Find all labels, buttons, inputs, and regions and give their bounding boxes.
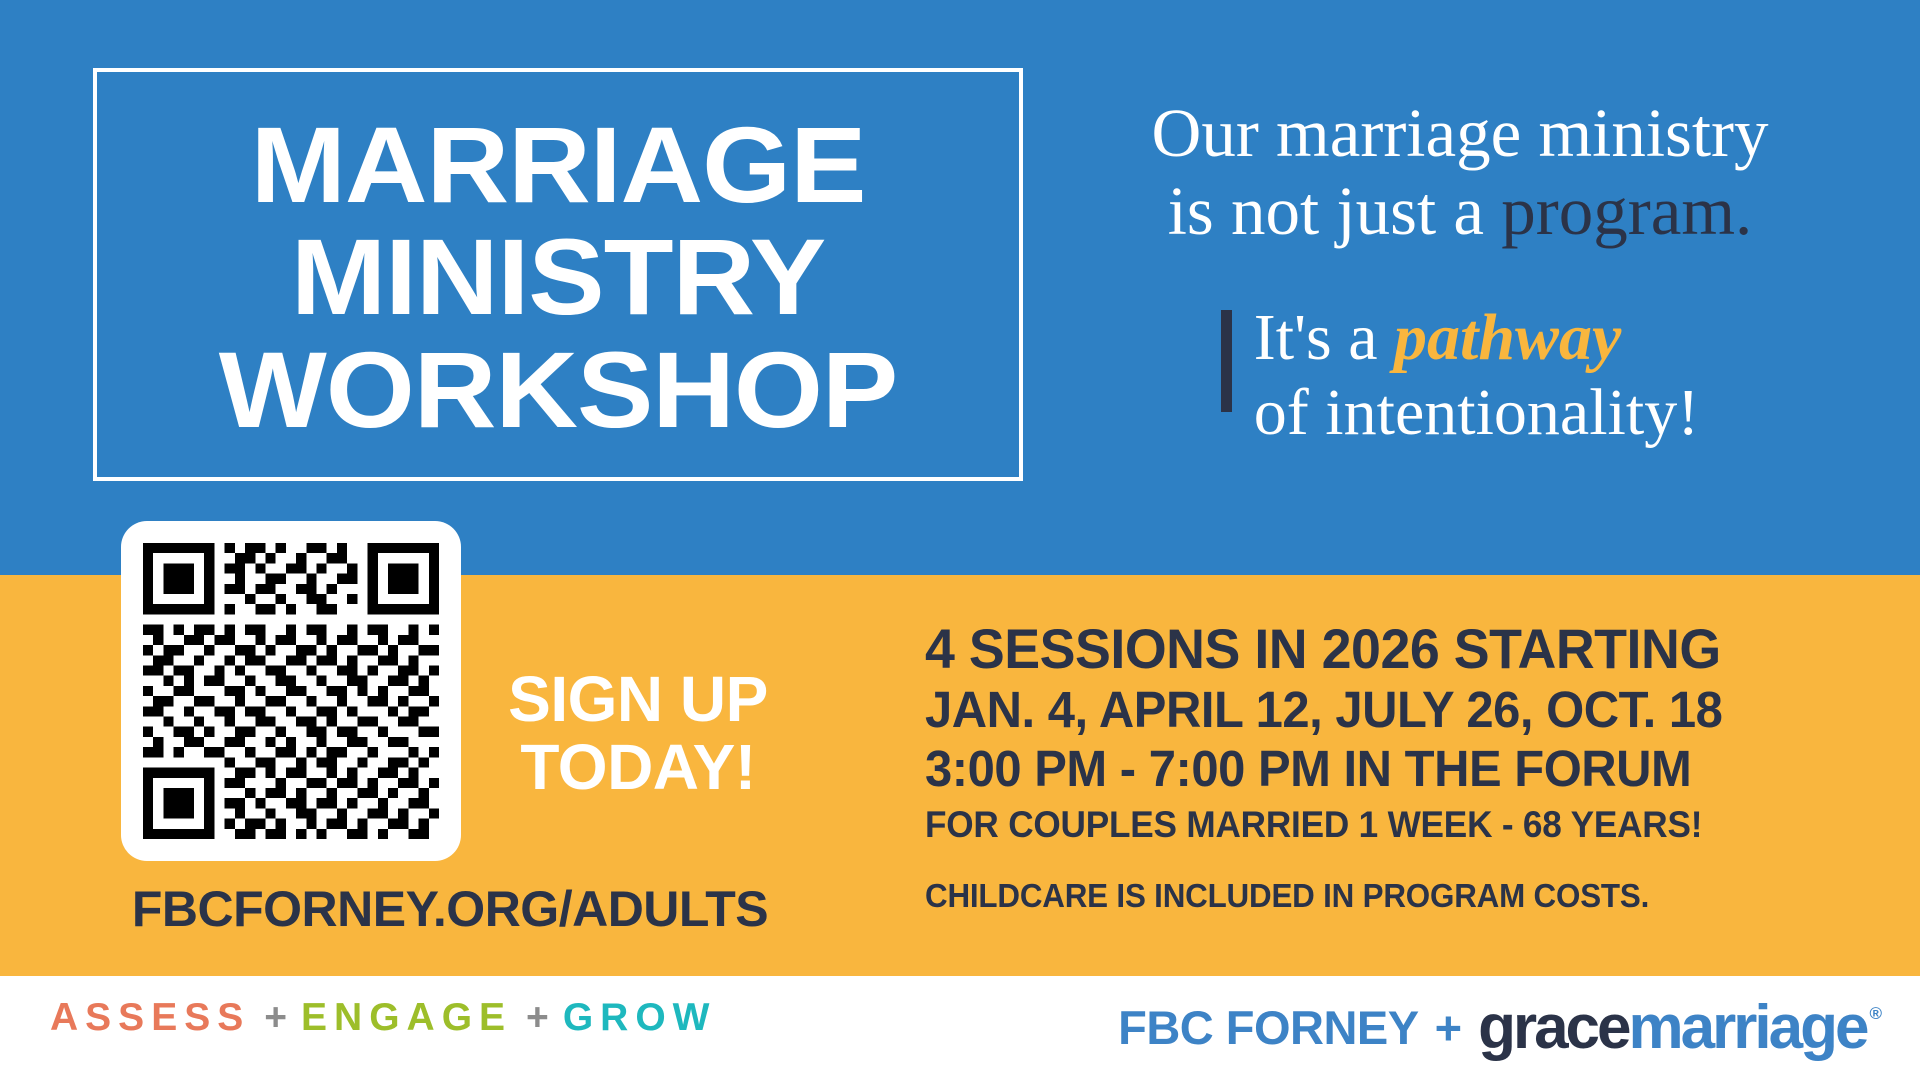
subheadline-line-2: of intentionality! (1254, 376, 1699, 449)
detail-sessions: 4 SESSIONS IN 2026 STARTING (925, 618, 1789, 679)
tagline-separator-1: + (250, 996, 301, 1040)
signup-line-2: TODAY! (468, 733, 808, 801)
poster-canvas: MARRIAGE MINISTRY WORKSHOP Our marriage … (0, 0, 1920, 1080)
accent-bar (1221, 310, 1232, 412)
headline-line-2: is not just a (1168, 173, 1502, 249)
subheadline-prefix: It's a (1254, 301, 1394, 374)
title-line-1: MARRIAGE (251, 109, 866, 221)
detail-dates: JAN. 4, APRIL 12, JULY 26, OCT. 18 (925, 681, 1789, 738)
logo-grace: grace (1478, 992, 1628, 1063)
title-line-3: WORKSHOP (219, 334, 897, 446)
brand-plus: + (1419, 1000, 1478, 1055)
title-block: MARRIAGE MINISTRY WORKSHOP (93, 68, 1023, 481)
event-details: 4 SESSIONS IN 2026 STARTING JAN. 4, APRI… (925, 618, 1825, 915)
grace-marriage-logo: grace marriage ® (1478, 992, 1882, 1063)
headline-line-1: Our marriage ministry (1152, 95, 1769, 171)
registered-mark-icon: ® (1869, 1004, 1882, 1024)
headline-emphasis: program. (1501, 173, 1752, 249)
logo-marriage: marriage (1629, 992, 1867, 1063)
subheadline: It's a pathway of intentionality! (1254, 300, 1699, 450)
subheadline-accent-word: pathway (1394, 301, 1621, 374)
tagline-separator-2: + (512, 996, 563, 1040)
subheadline-block: It's a pathway of intentionality! (1045, 300, 1875, 450)
title-line-2: MINISTRY (291, 221, 825, 333)
headline: Our marriage ministry is not just a prog… (1045, 95, 1875, 251)
detail-audience: FOR COUPLES MARRIED 1 WEEK - 68 YEARS! (925, 803, 1780, 847)
signup-line-1: SIGN UP (468, 665, 808, 733)
tagline-assess: ASSESS (50, 996, 250, 1040)
qr-code-icon[interactable] (143, 543, 439, 839)
brand-church-name: FBC FORNEY (1118, 1000, 1419, 1055)
tagline-grow: GROW (563, 996, 717, 1040)
brand-lockup: FBC FORNEY + grace marriage ® (1118, 992, 1882, 1063)
signup-url[interactable]: FBCFORNEY.ORG/ADULTS (100, 880, 800, 938)
signup-callout: SIGN UP TODAY! (468, 665, 808, 802)
detail-time-location: 3:00 PM - 7:00 PM IN THE FORUM (925, 740, 1789, 797)
detail-childcare: CHILDCARE IS INCLUDED IN PROGRAM COSTS. (925, 876, 1780, 916)
tagline-engage: ENGAGE (301, 996, 512, 1040)
qr-code-card[interactable] (121, 521, 461, 861)
values-tagline: ASSESS + ENGAGE + GROW (50, 996, 716, 1040)
